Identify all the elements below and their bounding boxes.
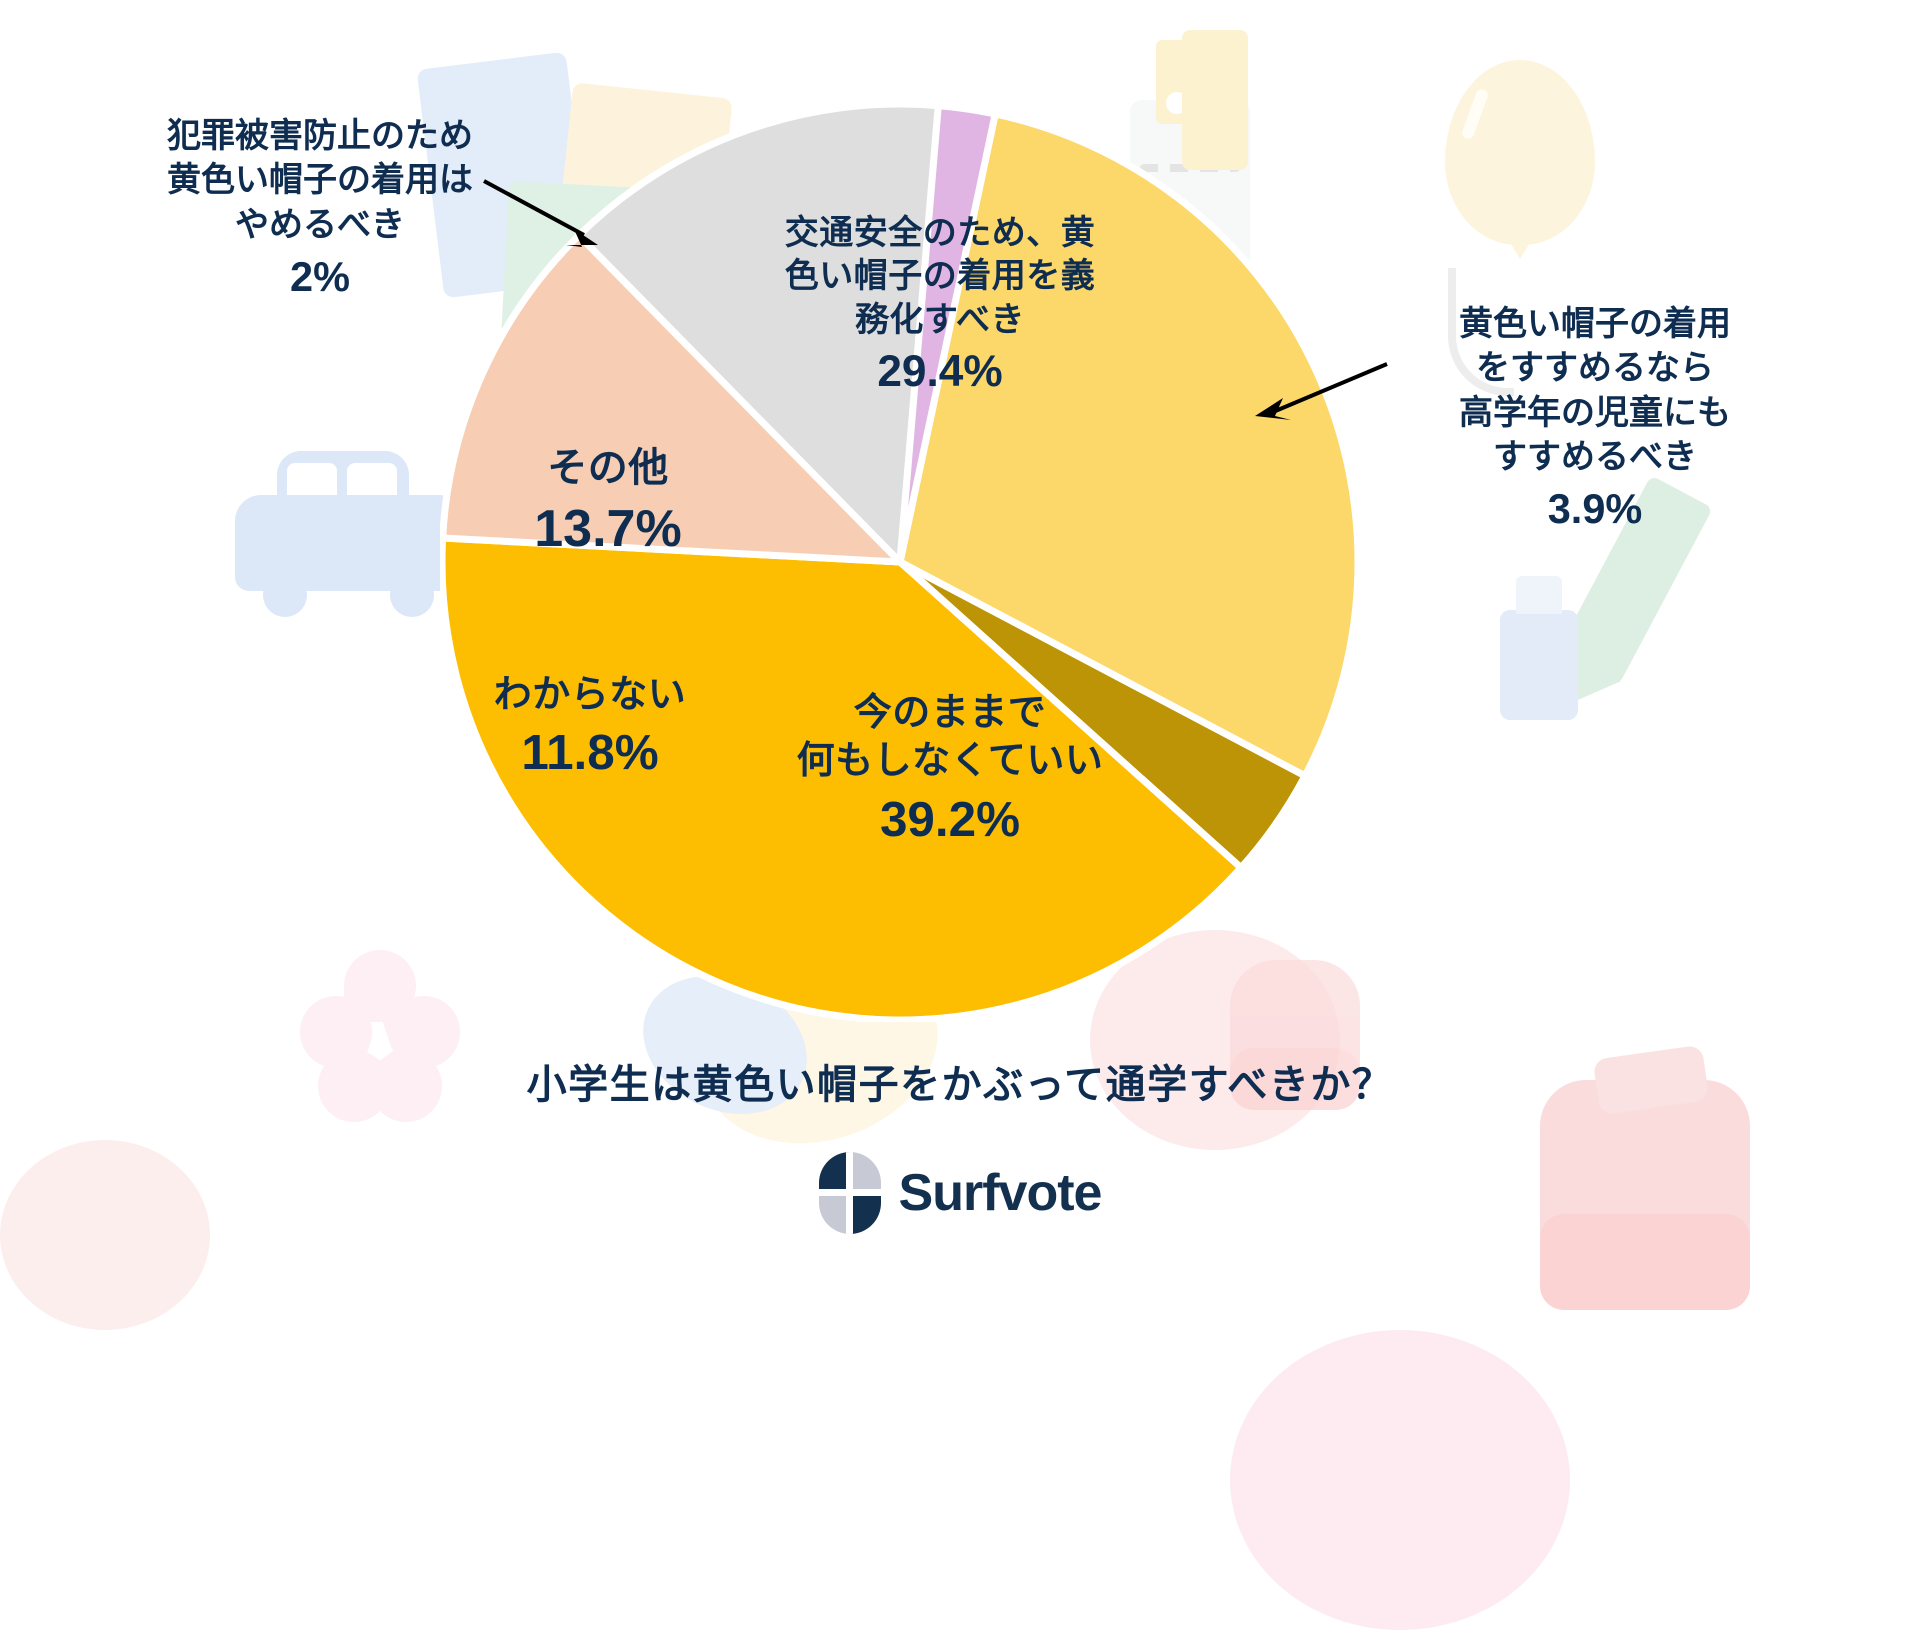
surfvote-logo-icon bbox=[819, 1152, 881, 1234]
callout-stop-wearing: 犯罪被害防止のため 黄色い帽子の着用は やめるべき 2% bbox=[110, 70, 530, 348]
glue-stick-icon bbox=[1500, 610, 1578, 720]
leader-line-recommend-older bbox=[1235, 358, 1395, 428]
callout-recommend-older-text: 黄色い帽子の着用 をすすめるなら 高学年の児童にも すすめるべき bbox=[1459, 305, 1731, 476]
slice-label-dont-know-percent: 11.8% bbox=[445, 721, 735, 784]
callout-recommend-older: 黄色い帽子の着用 をすすめるなら 高学年の児童にも すすめるべき 3.9% bbox=[1385, 258, 1805, 580]
surfvote-mark-icon bbox=[819, 1152, 881, 1234]
slice-label-mandatory-text: 交通安全のため、黄 色い帽子の着用を義 務化すべき bbox=[785, 214, 1096, 339]
callout-stop-wearing-text: 犯罪被害防止のため 黄色い帽子の着用は やめるべき bbox=[167, 117, 473, 243]
slice-label-other-text: その他 bbox=[547, 446, 669, 490]
slice-label-status-quo-percent: 39.2% bbox=[740, 788, 1160, 851]
slice-label-other: その他 13.7% bbox=[478, 392, 738, 614]
slice-label-dont-know: わからない 11.8% bbox=[445, 622, 735, 833]
slice-label-mandatory: 交通安全のため、黄 色い帽子の着用を義 務化すべき 29.4% bbox=[740, 168, 1140, 444]
chart-canvas: 交通安全のため、黄 色い帽子の着用を義 務化すべき 29.4% 今のままで 何も… bbox=[0, 0, 1920, 1280]
brand-name: Surfvote bbox=[899, 1163, 1102, 1223]
chart-title: 小学生は黄色い帽子をかぶって通学すべきか？ bbox=[0, 1052, 1920, 1110]
slice-label-dont-know-text: わからない bbox=[494, 674, 687, 716]
balloon-icon bbox=[1445, 60, 1595, 245]
slice-label-other-percent: 13.7% bbox=[478, 496, 738, 563]
slice-label-status-quo: 今のままで 何もしなくていい 39.2% bbox=[740, 640, 1160, 900]
slice-label-status-quo-text: 今のままで 何もしなくていい bbox=[797, 692, 1104, 783]
callout-recommend-older-percent: 3.9% bbox=[1385, 482, 1805, 536]
slice-label-mandatory-percent: 29.4% bbox=[740, 344, 1140, 401]
callout-stop-wearing-percent: 2% bbox=[110, 250, 530, 304]
blob-blush-icon bbox=[1230, 1330, 1570, 1630]
brand-lockup: Surfvote bbox=[0, 1152, 1920, 1234]
leader-line-stop-wearing bbox=[480, 175, 610, 255]
